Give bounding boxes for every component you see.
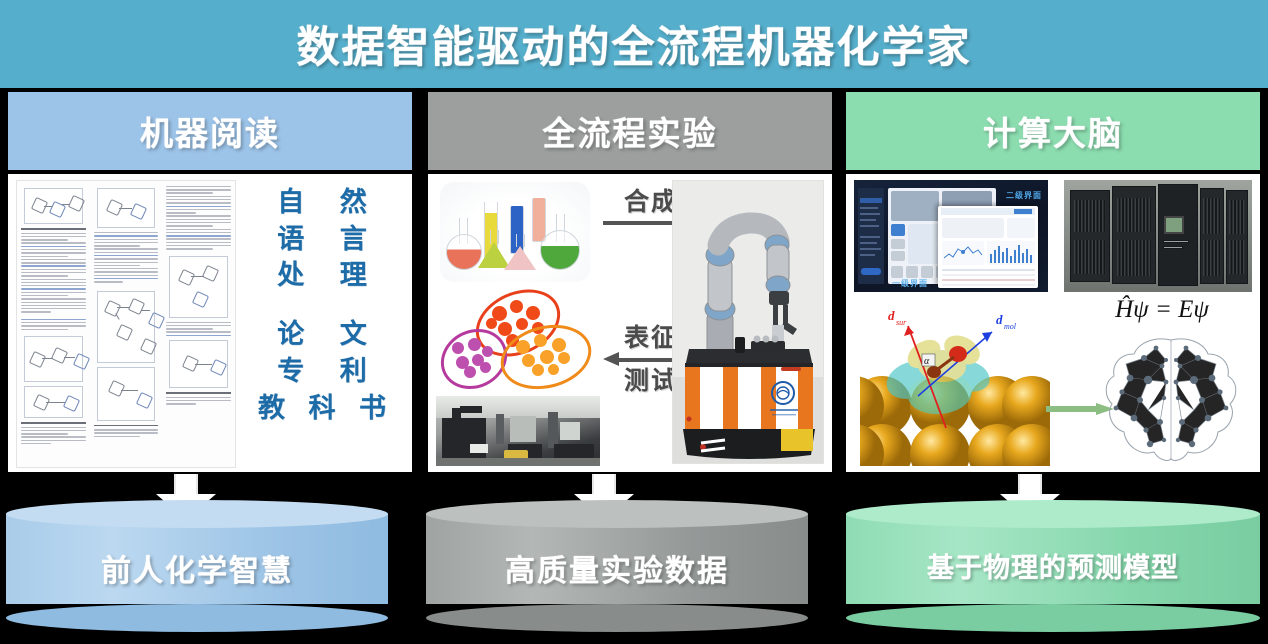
laboratory-flasks [440,182,590,282]
brain-svg [1096,334,1246,466]
cylinder-bottom [846,604,1260,632]
data-clusters [438,292,598,392]
dmol-label: d [996,312,1003,327]
scientific-paper-page [16,180,236,468]
title-banner: 数据智能驱动的全流程机器化学家 [0,0,1268,88]
keyword-item: 专 利 [263,353,381,390]
mobile-robot-chemist [672,180,824,464]
keyword-item: 处 理 [263,257,381,294]
column3-panel: 二级界面 一级界面 [846,174,1260,472]
line-chart-icon [944,244,982,263]
cylinder-top [426,500,808,528]
robot-illustration [673,181,824,464]
keyword-list: 自 然 语 言 处 理 论 文 专 利 教 科 书 [238,184,406,464]
cylinder-top [846,500,1260,528]
column1-panel: 自 然 语 言 处 理 论 文 专 利 教 科 书 [8,174,412,472]
svg-text:mol: mol [1004,322,1017,331]
cylinder-high-quality-data: 高质量实验数据 [426,500,808,618]
column1-header-label: 机器阅读 [140,107,280,155]
dsur-label: d [888,308,895,323]
column2-header: 全流程实验 [428,92,832,170]
dashboard-label-secondary: 二级界面 [1006,190,1042,201]
cylinder3-label: 基于物理的预测模型 [846,546,1260,585]
column-full-process-experiment: 全流程实验 [428,92,832,472]
keyword-item: 语 言 [263,221,381,258]
dashboard-label-primary: 一级界面 [892,278,928,289]
column2-header-label: 全流程实验 [543,107,718,155]
diagram-root: 数据智能驱动的全流程机器化学家 机器阅读 [0,0,1268,644]
supercomputer-racks [1064,180,1252,292]
page-title: 数据智能驱动的全流程机器化学家 [297,13,972,75]
column-computing-brain: 计算大脑 [846,92,1260,472]
column3-header: 计算大脑 [846,92,1260,170]
column-machine-reading: 机器阅读 [8,92,412,472]
cylinder2-label: 高质量实验数据 [426,546,808,590]
svg-text:sur: sur [896,318,907,327]
column3-header-label: 计算大脑 [983,107,1123,155]
automated-lab-station [436,396,600,466]
cylinder-bottom [6,604,388,632]
keyword-item: 论 文 [263,316,381,353]
dft-orbital-visualization: d sur d mol α [860,302,1050,466]
cylinder-top [6,500,388,528]
schrodinger-equation: Ĥψ = Eψ [1068,296,1256,324]
keyword-item: 教 科 书 [250,390,394,427]
keyword-item: 自 然 [263,184,381,221]
orbital-svg: d sur d mol α [860,302,1050,466]
control-dashboard: 二级界面 一级界面 [854,180,1048,292]
cylinder-physics-based-model: 基于物理的预测模型 [846,500,1260,618]
cylinder1-label: 前人化学智慧 [6,546,388,590]
column1-header: 机器阅读 [8,92,412,170]
cylinder-bottom [426,604,808,632]
cylinder-prior-chemical-wisdom: 前人化学智慧 [6,500,388,618]
column2-panel: 合成 表征 测试 [428,174,832,472]
neural-network-brain [1096,334,1246,466]
alpha-label: α [924,356,930,367]
